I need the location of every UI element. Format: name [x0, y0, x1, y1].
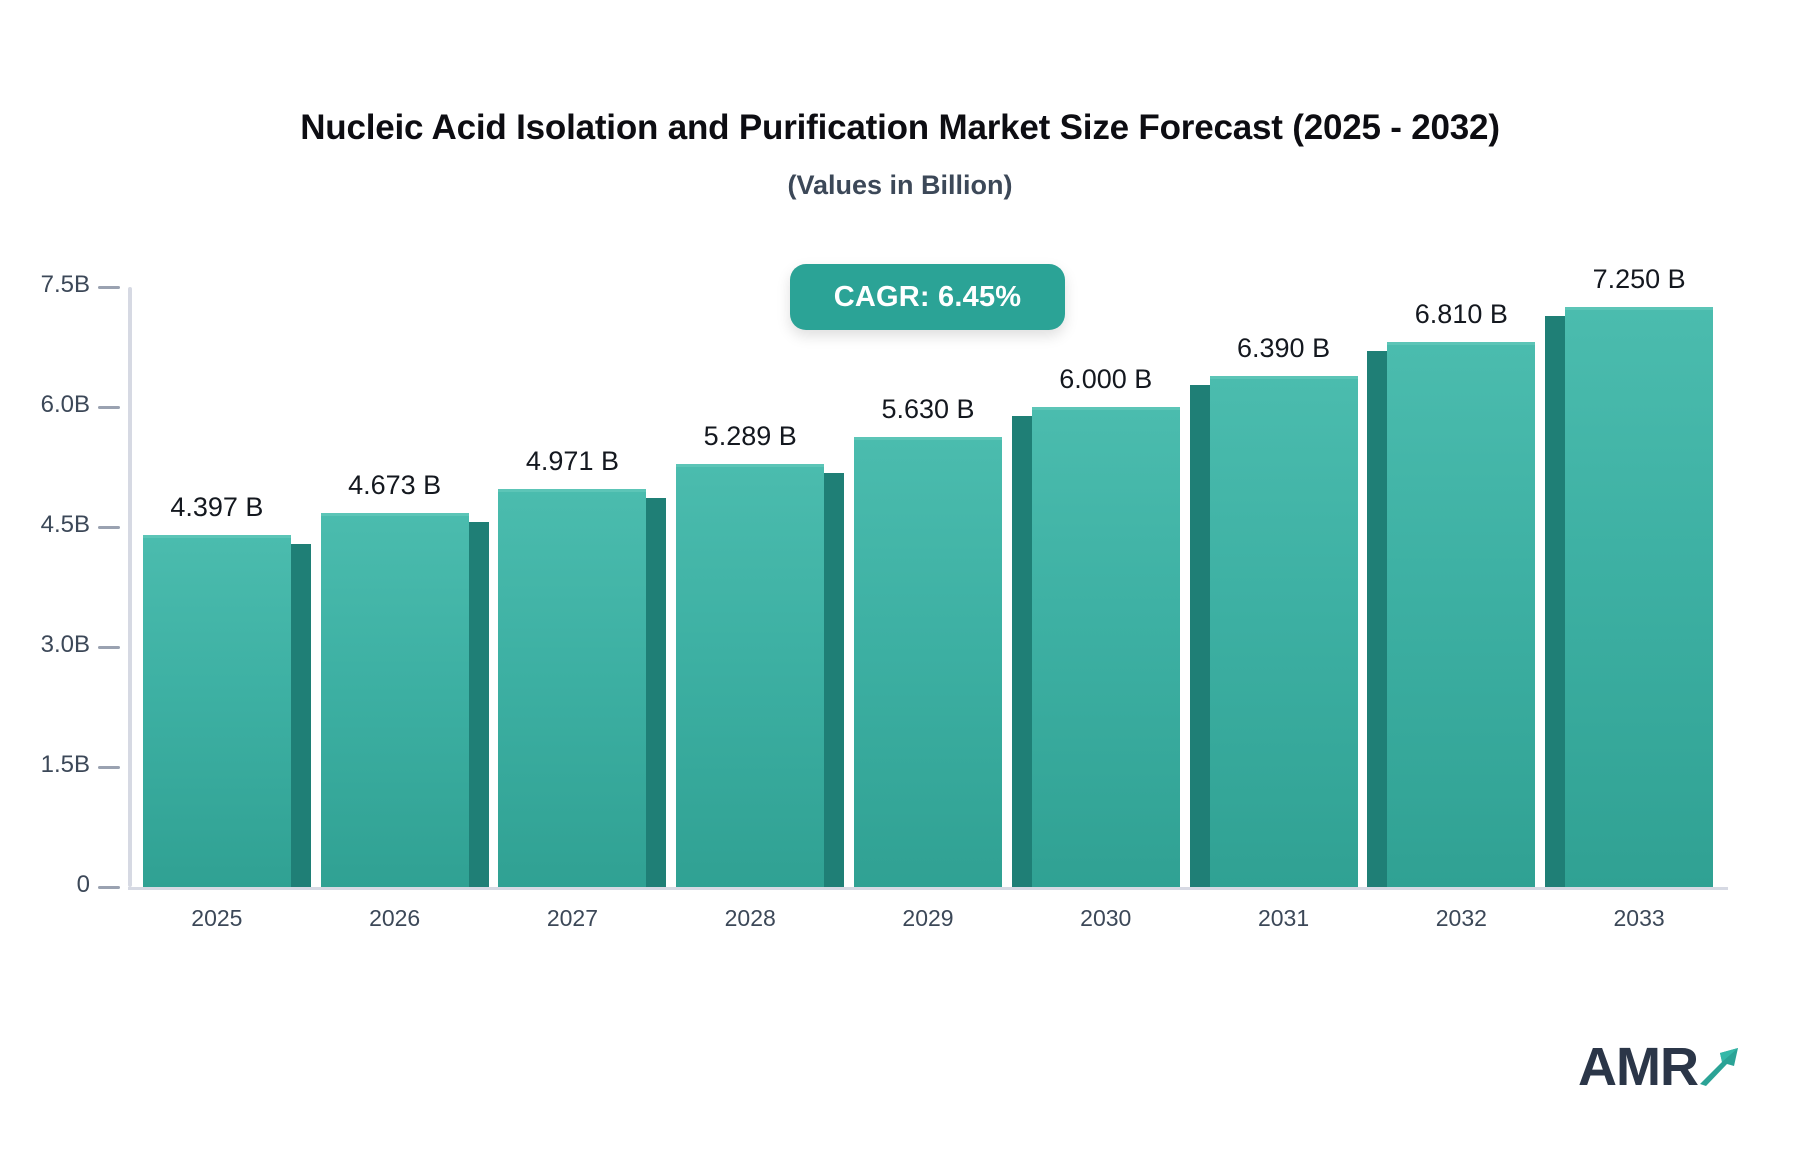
y-axis-tick-label: 7.5B [0, 271, 90, 299]
bar-side-face [1190, 385, 1212, 887]
bar[interactable]: 7.250 B [1565, 307, 1713, 887]
bar-side-face [644, 498, 666, 887]
bar[interactable]: 4.971 B [498, 489, 646, 887]
plot-area: 4.397 B4.673 B4.971 B5.289 B5.630 B6.000… [128, 287, 1728, 887]
amr-logo-text: AMR [1578, 1040, 1698, 1094]
bar-side-face [822, 473, 844, 887]
x-axis-tick-label: 2026 [295, 905, 495, 932]
y-axis-tick-mark [98, 526, 120, 529]
bar-top-edge [676, 464, 824, 467]
y-axis-tick-mark [98, 286, 120, 289]
x-axis-line [128, 887, 1728, 890]
bar-side-face [1367, 351, 1389, 887]
y-axis-line [128, 287, 132, 887]
bar-top-edge [143, 535, 291, 538]
y-axis-tick-label: 1.5B [0, 751, 90, 779]
bar-top-edge [1210, 376, 1358, 379]
bar-front-face [1210, 376, 1358, 887]
bar[interactable]: 5.630 B [854, 437, 1002, 887]
bar-front-face [1032, 407, 1180, 887]
bar[interactable]: 4.397 B [143, 535, 291, 887]
x-axis-tick-label: 2027 [472, 905, 672, 932]
bar-front-face [1387, 342, 1535, 887]
bar-front-face [854, 437, 1002, 887]
y-axis-tick-mark [98, 406, 120, 409]
bar-side-face [289, 544, 311, 887]
y-axis-tick-label: 6.0B [0, 391, 90, 419]
bar[interactable]: 5.289 B [676, 464, 824, 887]
amr-logo: AMR [1578, 1040, 1742, 1094]
bar-front-face [321, 513, 469, 887]
bar[interactable]: 4.673 B [321, 513, 469, 887]
bar-top-edge [321, 513, 469, 516]
bar-front-face [1565, 307, 1713, 887]
trend-arrow-up-icon [1696, 1044, 1742, 1090]
bar-top-edge [854, 437, 1002, 440]
chart-subtitle: (Values in Billion) [0, 170, 1800, 201]
y-axis-tick-mark [98, 766, 120, 769]
bar[interactable]: 6.390 B [1210, 376, 1358, 887]
x-axis-tick-label: 2030 [1006, 905, 1206, 932]
x-axis-tick-label: 2032 [1361, 905, 1561, 932]
y-axis-tick-mark [98, 646, 120, 649]
bar-side-face [467, 522, 489, 887]
bar-value-label: 7.250 B [1509, 264, 1769, 295]
bar-top-edge [1032, 407, 1180, 410]
bar-top-edge [498, 489, 646, 492]
y-axis-tick-label: 0 [0, 871, 90, 899]
x-axis-tick-label: 2033 [1539, 905, 1739, 932]
bar-value-label: 5.289 B [620, 421, 880, 452]
x-axis-tick-label: 2025 [117, 905, 317, 932]
bar-top-edge [1565, 307, 1713, 310]
bar-front-face [676, 464, 824, 887]
y-axis-tick-label: 4.5B [0, 511, 90, 539]
x-axis-tick-label: 2031 [1184, 905, 1384, 932]
page-title: Nucleic Acid Isolation and Purification … [0, 108, 1800, 148]
bar-side-face [1545, 316, 1567, 887]
bar[interactable]: 6.810 B [1387, 342, 1535, 887]
bar-front-face [498, 489, 646, 887]
x-axis-tick-label: 2029 [828, 905, 1028, 932]
y-axis-tick-label: 3.0B [0, 631, 90, 659]
bar-top-edge [1387, 342, 1535, 345]
x-axis-tick-label: 2028 [650, 905, 850, 932]
y-axis-tick-mark [98, 886, 120, 889]
bar[interactable]: 6.000 B [1032, 407, 1180, 887]
bar-side-face [1012, 416, 1034, 887]
bar-front-face [143, 535, 291, 887]
chart-page: Nucleic Acid Isolation and Purification … [0, 0, 1800, 1156]
